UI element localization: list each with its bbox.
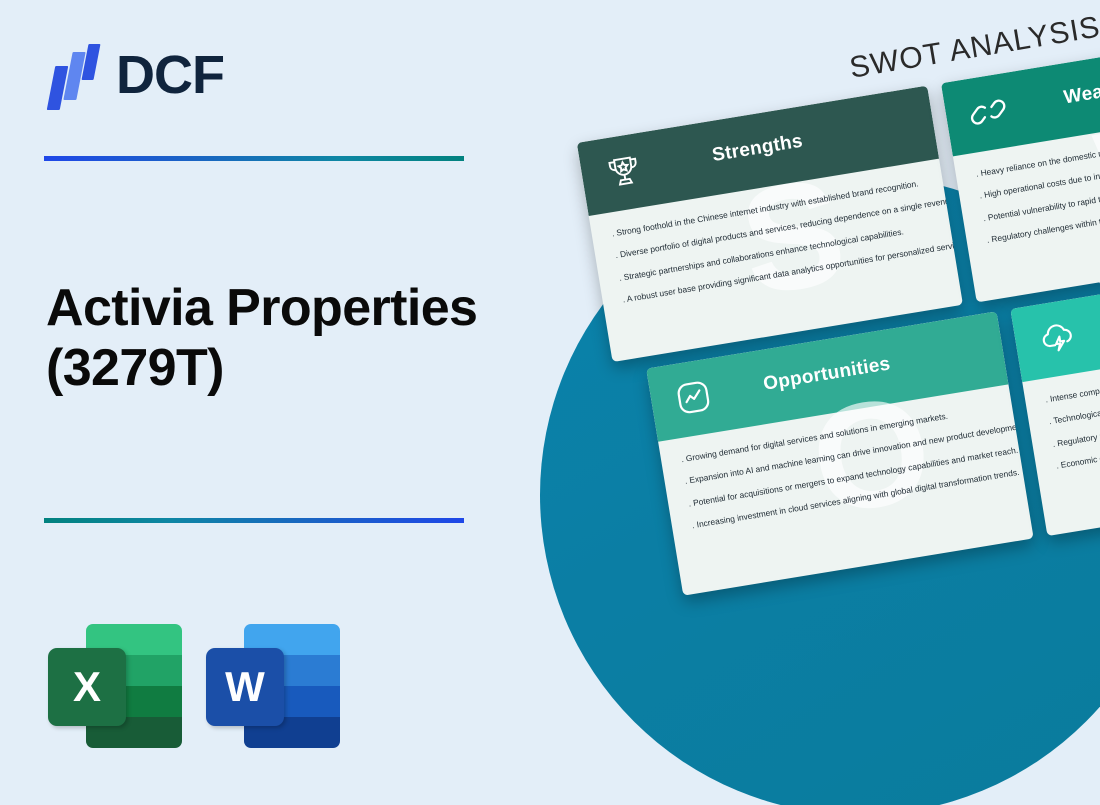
excel-badge-letter: X	[48, 648, 126, 726]
word-file-icon[interactable]: W	[206, 624, 340, 748]
card-title-weaknesses: Weaknesses	[945, 50, 1100, 129]
poster-canvas: DCF Activia Properties (3279T) X W	[0, 0, 1100, 805]
word-badge-letter: W	[206, 648, 284, 726]
brand-logo[interactable]: DCF	[44, 44, 224, 106]
swot-card-opportunities[interactable]: Opportunities O Growing demand for digit…	[646, 311, 1034, 595]
excel-file-icon[interactable]: X	[48, 624, 182, 748]
swot-card-strengths[interactable]: Strengths S Strong foothold in the Chine…	[577, 86, 963, 362]
swot-card-grid: Strengths S Strong foothold in the Chine…	[500, 0, 1100, 805]
brand-logo-text: DCF	[116, 48, 224, 102]
three-bars-logo-icon	[44, 44, 102, 106]
divider-top	[44, 156, 464, 161]
page-title: Activia Properties (3279T)	[46, 278, 546, 399]
download-icons: X W	[48, 624, 340, 748]
swot-graphic: SWOT ANALYSIS Strengths	[500, 0, 1100, 805]
divider-bottom	[44, 518, 464, 523]
swot-card-weaknesses[interactable]: Weaknesses W Heavy reliance on the domes…	[941, 26, 1100, 302]
